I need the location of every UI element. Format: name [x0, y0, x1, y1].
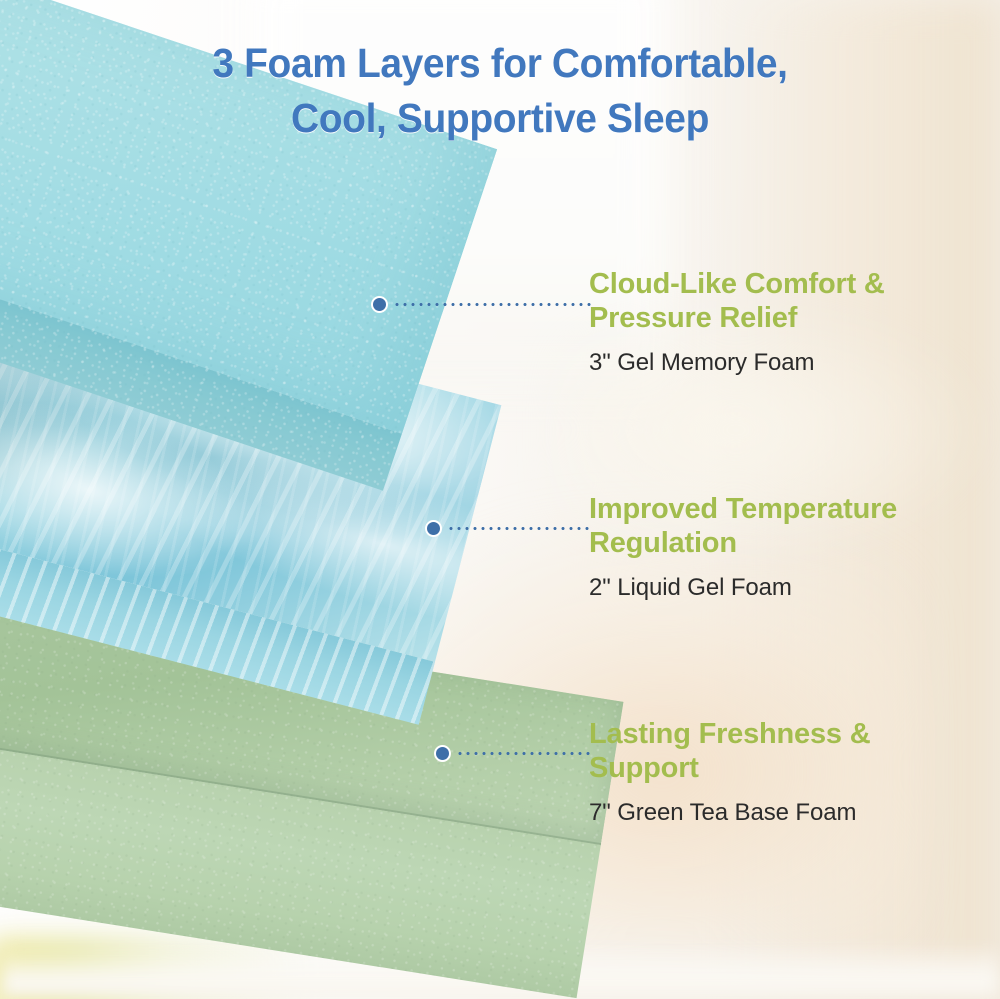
connector-leader-green-tea [456, 752, 591, 755]
callout-title-green-tea: Lasting Freshness & Support [589, 718, 989, 786]
page-title: 3 Foam Layers for Comfortable, Cool, Sup… [25, 36, 975, 145]
callout-subtitle-green-tea: 7" Green Tea Base Foam [589, 799, 989, 828]
connector-dot-gel-memory [371, 296, 388, 313]
callout-liquid-gel: Improved Temperature Regulation 2" Liqui… [589, 493, 989, 603]
callout-subtitle-gel-memory: 3" Gel Memory Foam [589, 349, 989, 378]
callout-gel-memory: Cloud-Like Comfort & Pressure Relief 3" … [589, 268, 989, 378]
connector-liquid-gel [425, 520, 591, 537]
callout-title-gel-memory: Cloud-Like Comfort & Pressure Relief [589, 268, 989, 336]
infographic-canvas: 3 Foam Layers for Comfortable, Cool, Sup… [0, 0, 1000, 999]
headline-line-2: Cool, Supportive Sleep [25, 91, 975, 146]
connector-dot-green-tea [434, 745, 451, 762]
connector-leader-gel-memory [393, 303, 591, 306]
connector-leader-liquid-gel [447, 527, 591, 530]
connector-green-tea [434, 745, 591, 762]
callout-green-tea: Lasting Freshness & Support 7" Green Tea… [589, 718, 989, 828]
headline-line-1: 3 Foam Layers for Comfortable, [212, 40, 787, 86]
callout-title-liquid-gel: Improved Temperature Regulation [589, 493, 989, 561]
callout-subtitle-liquid-gel: 2" Liquid Gel Foam [589, 574, 989, 603]
connector-dot-liquid-gel [425, 520, 442, 537]
connector-gel-memory [371, 296, 591, 313]
